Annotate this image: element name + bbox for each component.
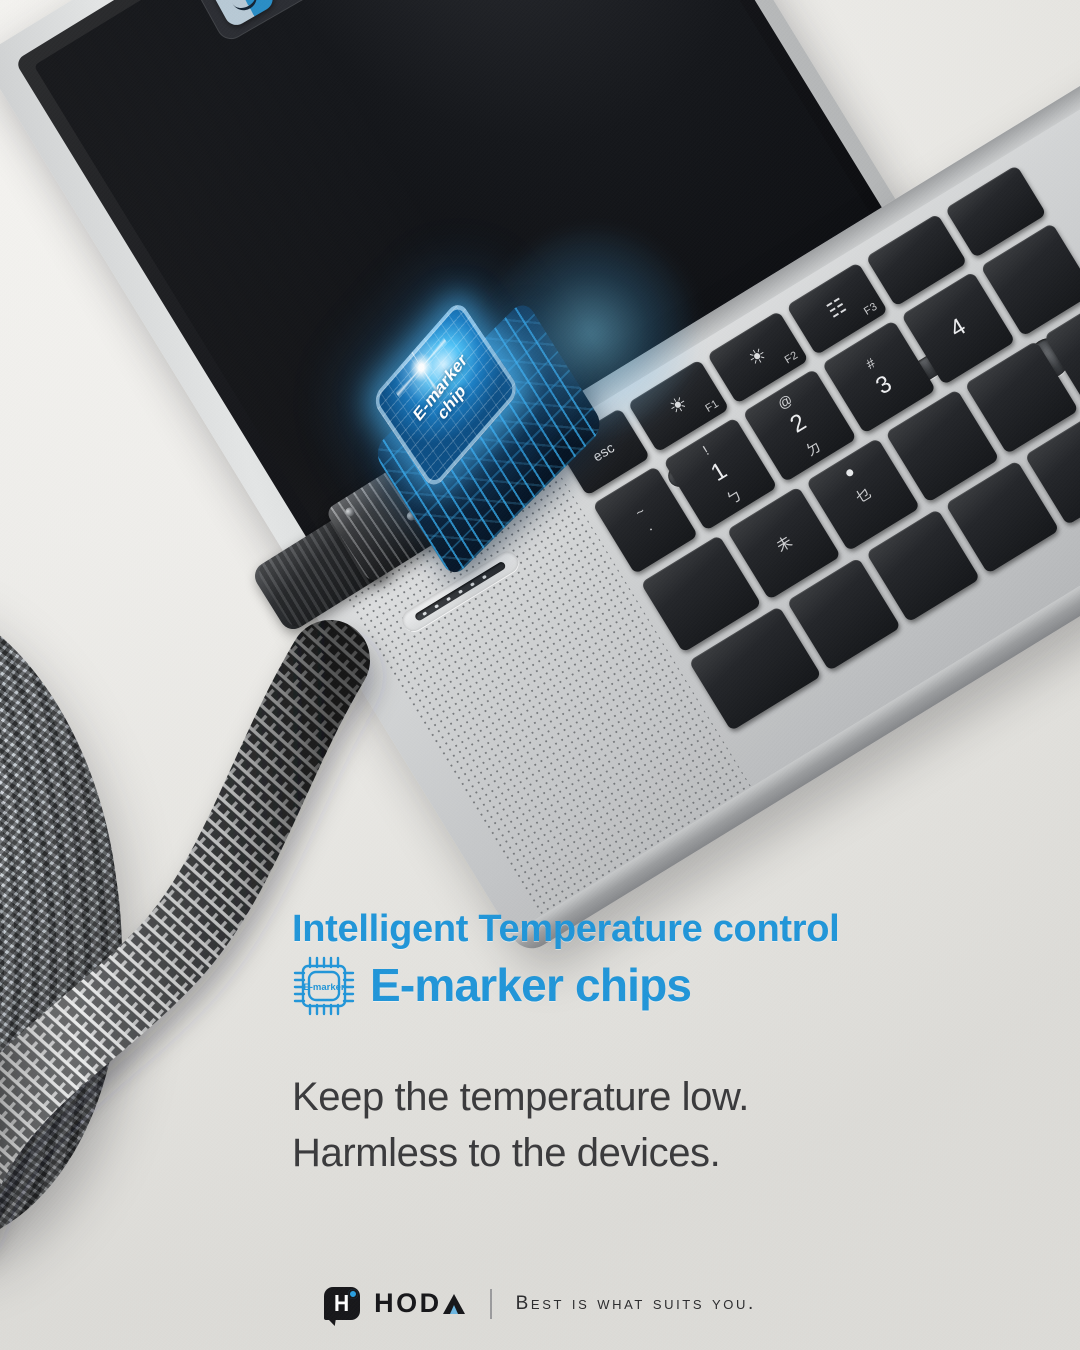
key-f2-label: F2: [783, 349, 801, 366]
brightness-down-icon: ☀: [666, 393, 692, 420]
key-f1-label: F1: [703, 398, 721, 415]
subcopy-block: Keep the temperature low. Harmless to th…: [292, 1069, 1022, 1183]
key-3-top: #: [863, 354, 878, 372]
logo-badge-dot: [348, 1289, 358, 1299]
headline-line-1: Intelligent Temperature control: [292, 908, 1022, 951]
logo-h-letter: H: [334, 1292, 349, 1316]
key-2-top: @: [774, 391, 795, 412]
microchip-icon-text: E-marker: [303, 982, 344, 993]
microchip-icon: E-marker: [292, 955, 358, 1017]
key-4-digit: 4: [945, 313, 971, 344]
key-w-indicator: [845, 468, 855, 478]
key-q-cjk: 未: [772, 530, 796, 556]
brand-tagline: Best is what suits you.: [516, 1293, 756, 1315]
subcopy-line-2: Harmless to the devices.: [292, 1125, 1022, 1182]
key-1-top: !: [700, 442, 712, 458]
footer-divider: [490, 1289, 492, 1319]
headline-line-2: E-marker chips: [370, 961, 691, 1009]
hoda-logo-mark: H: [324, 1287, 360, 1320]
mission-control-icon: ☷: [824, 295, 850, 322]
hoda-wordmark-a-triangle: [443, 1294, 466, 1314]
hoda-wordmark: HOD: [374, 1290, 466, 1317]
key-3-digit: 3: [871, 370, 897, 401]
marketing-image-canvas: esc ☀ F1 ☀ F2 ☷ F3: [0, 0, 1080, 1350]
copy-block: Intelligent Temperature control: [292, 908, 1022, 1182]
key-f3-label: F3: [862, 301, 880, 318]
hoda-wordmark-text: HOD: [374, 1290, 442, 1317]
brand-footer: H HOD Best is what suits you.: [0, 1287, 1080, 1320]
key-2-digit: 2: [785, 408, 811, 439]
key-1-digit: 1: [706, 456, 732, 487]
key-1-cjk: ㄅ: [722, 483, 746, 509]
key-w-cjk: 乜: [851, 482, 875, 508]
key-2-cjk: ㄉ: [801, 435, 825, 461]
subcopy-line-1: Keep the temperature low.: [292, 1069, 1022, 1126]
brightness-up-icon: ☀: [745, 344, 771, 371]
braided-usbc-cable: E-marker chip: [0, 430, 700, 1330]
headline-line-2-row: E-marker E-marker chips: [292, 955, 1022, 1017]
